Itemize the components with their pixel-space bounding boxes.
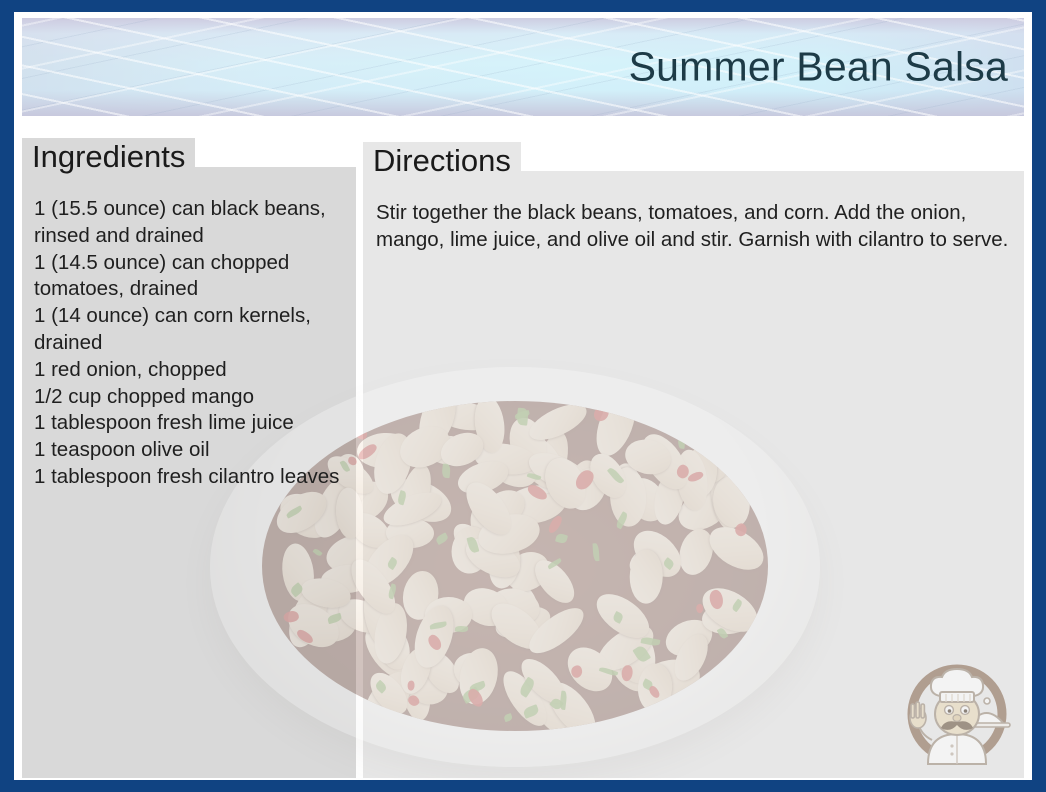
recipe-slide: Summer Bean Salsa Ingredients Directions… [0,0,1046,792]
slide-mat: Summer Bean Salsa Ingredients Directions… [14,12,1032,780]
ingredient-item: 1 (15.5 ounce) can black beans, rinsed a… [34,196,364,250]
ingredient-item: 1/2 cup chopped mango [34,384,364,411]
ingredient-item: 1 tablespoon fresh cilantro leaves [34,464,364,491]
chef-logo [896,648,1018,768]
page-title: Summer Bean Salsa [629,45,1008,88]
directions-text: Stir together the black beans, tomatoes,… [376,199,1010,253]
directions-heading: Directions [363,142,521,183]
ingredient-item: 1 red onion, chopped [34,357,364,384]
ingredient-item: 1 tablespoon fresh lime juice [34,410,364,437]
header-banner: Summer Bean Salsa [22,18,1024,116]
ingredients-heading: Ingredients [22,138,195,179]
ingredient-item: 1 (14 ounce) can corn kernels, drained [34,303,364,357]
ingredient-item: 1 teaspoon olive oil [34,437,364,464]
ingredient-item: 1 (14.5 ounce) can chopped tomatoes, dra… [34,250,364,304]
ingredients-list: 1 (15.5 ounce) can black beans, rinsed a… [34,196,364,491]
